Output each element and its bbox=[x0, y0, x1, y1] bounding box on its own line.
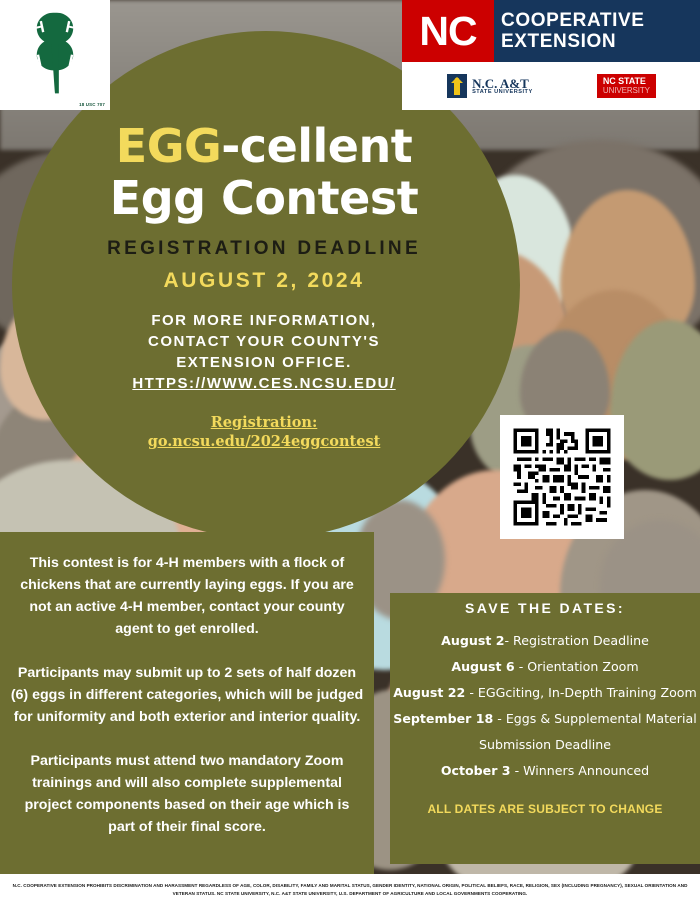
svg-text:H: H bbox=[64, 18, 79, 38]
qr-code-icon bbox=[510, 425, 614, 529]
poster-canvas: H H H H 18 USC 707 NC COOPERATIVE EXTENS… bbox=[0, 0, 700, 906]
registration-deadline-label: REGISTRATION DEADLINE bbox=[14, 238, 514, 260]
extension-logo-top: NC COOPERATIVE EXTENSION bbox=[402, 0, 700, 62]
dates-subject-to-change-note: ALL DATES ARE SUBJECT TO CHANGE bbox=[390, 802, 700, 816]
date-description: - Orientation Zoom bbox=[515, 659, 639, 674]
date-description: - Winners Announced bbox=[511, 763, 650, 778]
nondiscrimination-statement: N.C. COOPERATIVE EXTENSION PROHIBITS DIS… bbox=[12, 882, 688, 897]
registration-url[interactable]: go.ncsu.edu/2024eggcontest bbox=[148, 433, 381, 450]
ncat-logo: N.C. A&T STATE UNIVERSITY bbox=[446, 72, 533, 100]
date-label: August 2 bbox=[441, 633, 504, 648]
date-item: August 6 - Orientation Zoom bbox=[390, 654, 700, 680]
registration-qr-code[interactable] bbox=[500, 415, 624, 539]
extension-nc-mark: NC bbox=[402, 0, 494, 62]
nc-state-logo: NC STATE UNIVERSITY bbox=[597, 74, 656, 98]
description-paragraph: This contest is for 4-H members with a f… bbox=[10, 552, 364, 640]
registration-link-block[interactable]: Registration: go.ncsu.edu/2024eggcontest bbox=[14, 413, 514, 451]
date-item: August 22 - EGGciting, In-Depth Training… bbox=[390, 680, 700, 706]
save-the-dates-block: SAVE THE DATES: August 2- Registration D… bbox=[390, 600, 700, 816]
title-egg-word: EGG bbox=[116, 119, 221, 173]
body-copy-panel-extension bbox=[0, 860, 374, 874]
registration-label: Registration: bbox=[211, 414, 318, 431]
extension-website-link[interactable]: HTTPS://WWW.CES.NCSU.EDU/ bbox=[14, 373, 514, 394]
date-label: October 3 bbox=[441, 763, 511, 778]
clover-icon: H H H H bbox=[7, 7, 103, 103]
ncat-name: N.C. A&T bbox=[472, 77, 533, 90]
ncat-subtitle: STATE UNIVERSITY bbox=[472, 90, 533, 96]
title-cellent-word: -cellent bbox=[221, 119, 412, 173]
save-the-dates-title: SAVE THE DATES: bbox=[390, 600, 700, 616]
description-paragraph: Participants may submit up to 2 sets of … bbox=[10, 662, 364, 728]
aggie-bulldog-icon bbox=[446, 72, 468, 100]
title-line-2: Egg Contest bbox=[14, 172, 514, 224]
extension-word-cooperative: COOPERATIVE bbox=[501, 10, 645, 31]
date-description: - Registration Deadline bbox=[504, 633, 648, 648]
date-label: September 18 bbox=[393, 711, 493, 726]
title-line-1: EGG-cellent bbox=[14, 120, 514, 172]
nc-state-line1: NC STATE bbox=[603, 77, 650, 86]
date-item: September 18 - Eggs & Supplemental Mater… bbox=[390, 706, 700, 758]
date-item: August 2- Registration Deadline bbox=[390, 628, 700, 654]
extension-word-extension: EXTENSION bbox=[501, 31, 616, 52]
headline-block: EGG-cellent Egg Contest REGISTRATION DEA… bbox=[14, 120, 514, 451]
contact-info-block: FOR MORE INFORMATION, CONTACT YOUR COUNT… bbox=[14, 310, 514, 394]
date-item: October 3 - Winners Announced bbox=[390, 758, 700, 784]
registration-deadline-date: AUGUST 2, 2024 bbox=[14, 269, 514, 293]
extension-wordmark: COOPERATIVE EXTENSION bbox=[494, 0, 700, 62]
contest-description: This contest is for 4-H members with a f… bbox=[10, 552, 364, 838]
svg-text:H: H bbox=[67, 52, 82, 72]
legal-footer: N.C. COOPERATIVE EXTENSION PROHIBITS DIS… bbox=[0, 874, 700, 906]
four-h-logo: H H H H 18 USC 707 bbox=[0, 0, 110, 110]
contact-info-line-2: CONTACT YOUR COUNTY'S bbox=[14, 331, 514, 352]
date-label: August 22 bbox=[393, 685, 465, 700]
date-description: - EGGciting, In-Depth Training Zoom bbox=[465, 685, 696, 700]
date-label: August 6 bbox=[451, 659, 514, 674]
nc-cooperative-extension-logo: NC COOPERATIVE EXTENSION N.C. A&T STATE … bbox=[402, 0, 700, 110]
ncat-wordmark: N.C. A&T STATE UNIVERSITY bbox=[472, 77, 533, 96]
four-h-legal-caption: 18 USC 707 bbox=[79, 102, 105, 107]
date-description: - Eggs & Supplemental Material Submissio… bbox=[479, 711, 697, 752]
contact-info-line-1: FOR MORE INFORMATION, bbox=[14, 310, 514, 331]
nc-state-line2: UNIVERSITY bbox=[603, 86, 650, 95]
contact-info-line-3: EXTENSION OFFICE. bbox=[14, 352, 514, 373]
description-paragraph: Participants must attend two mandatory Z… bbox=[10, 750, 364, 838]
partner-universities: N.C. A&T STATE UNIVERSITY NC STATE UNIVE… bbox=[402, 62, 700, 110]
